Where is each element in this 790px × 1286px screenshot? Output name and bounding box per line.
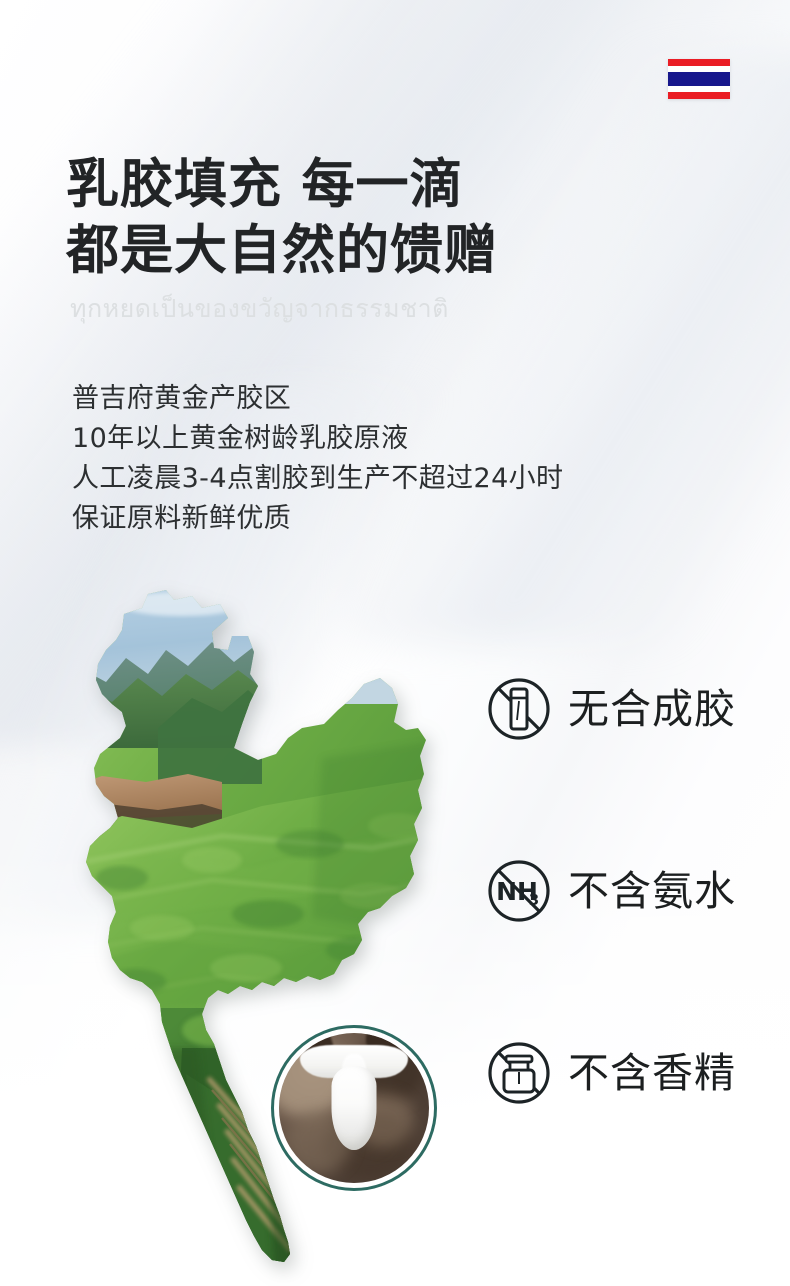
product-detail-page: 乳胶填充 每一滴 都是大自然的馈赠 ทุกหยดเป็นของขวัญจากธร… [0,0,790,1286]
headline-thai-subtitle: ทุกหยดเป็นของขวัญจากธรรมชาติ [70,292,449,326]
no-ammonia-icon: NH 3 [486,858,552,924]
flag-stripe-red-top [668,59,730,66]
feature-list: 无合成胶 NH 3 不含氨水 [486,666,786,1212]
headline-line-2: 都是大自然的馈赠 [66,218,706,284]
body-copy-block: 普吉府黄金产胶区 10年以上黄金树龄乳胶原液 人工凌晨3-4点割胶到生产不超过2… [72,379,692,539]
thailand-flag-icon [668,59,730,99]
headline-line-1: 乳胶填充 每一滴 [66,152,706,218]
flag-stripe-blue [668,72,730,85]
feature-row-no-fragrance: 不含香精 [486,1030,786,1116]
flag-stripe-white-top [668,66,730,73]
body-line: 普吉府黄金产胶区 [72,379,692,419]
feature-row-no-synthetic-glue: 无合成胶 [486,666,786,752]
latex-drop-photo-inner [279,1033,429,1183]
feature-label: 不含香精 [568,1048,736,1098]
svg-text:3: 3 [529,891,539,909]
body-line: 人工凌晨3-4点割胶到生产不超过24小时 [72,459,692,499]
flag-stripe-red-bottom [668,92,730,99]
feature-row-no-ammonia: NH 3 不含氨水 [486,848,786,934]
body-line: 10年以上黄金树龄乳胶原液 [72,419,692,459]
no-synthetic-glue-icon [486,676,552,742]
flag-stripe-white-bottom [668,86,730,93]
latex-droplet [332,1066,377,1150]
feature-label: 无合成胶 [568,684,736,734]
latex-drop-photo [271,1025,437,1191]
feature-label: 不含氨水 [568,866,736,916]
no-fragrance-icon [486,1040,552,1106]
body-line: 保证原料新鲜优质 [72,499,692,539]
headline-block: 乳胶填充 每一滴 都是大自然的馈赠 [66,152,706,284]
